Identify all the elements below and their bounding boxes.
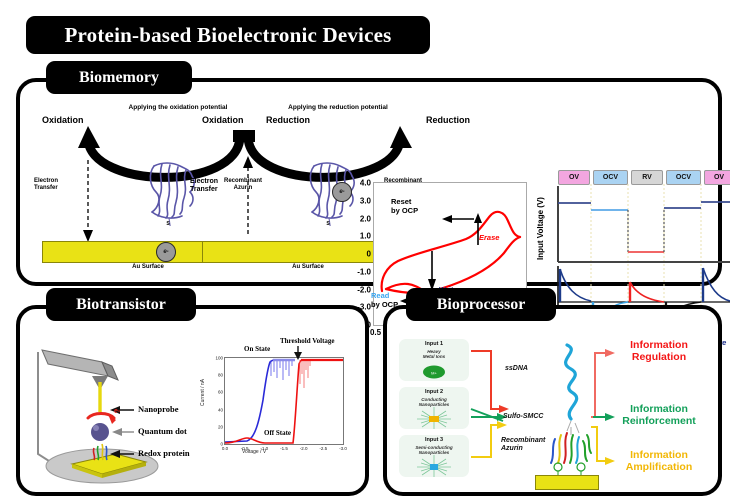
out-2-line2: Reinforcement <box>622 415 696 427</box>
cv-reset-line2: by OCP <box>391 206 418 215</box>
out-3-line1: Information <box>630 449 688 461</box>
iv-threshold-label: Threshold Voltage <box>280 337 335 345</box>
output-label-amplification: Information Amplification <box>626 449 693 473</box>
cv-ytick-3: 1.0 <box>360 232 371 241</box>
cv-annotation-erase: Erase <box>479 234 499 243</box>
middle-label-recombinant-azurin: Recombinant Azurin <box>501 437 545 454</box>
cv-ytick-1: 3.0 <box>360 196 371 205</box>
panel-badge-biomemory-text: Biomemory <box>79 69 159 87</box>
au-surface-bioprocessor <box>535 475 599 490</box>
out-1-line1: Information <box>630 339 688 351</box>
iv-xtick-4: -2.0 <box>300 446 308 451</box>
figure-root: Protein-based Bioelectronic Devices Appl… <box>0 0 730 504</box>
iv-xtick-6: -3.0 <box>339 446 347 451</box>
threshold-arrow-icon <box>292 346 322 362</box>
cv-ytick-4: 0 <box>367 250 371 259</box>
panel-badge-bioprocessor: Bioprocessor <box>406 288 556 321</box>
panel-biomemory: Applying the oxidation potential Oxidati… <box>16 78 722 286</box>
panel-badge-biotransistor: Biotransistor <box>46 288 196 321</box>
electron-badge-oxidation: e- <box>156 242 176 262</box>
panel-bioprocessor: Input 1 Heavy Metal Ions M+ Input 2 Cond… <box>383 305 722 496</box>
cv-annotation-reset: Reset by OCP <box>391 198 418 215</box>
label-quantum-dot: Quantum dot <box>138 426 187 436</box>
panel-badge-biotransistor-text: Biotransistor <box>76 296 166 314</box>
iv-yaxis-label: Current / nA <box>200 379 206 406</box>
transistor-transfer-chart: 0 20 40 60 80 100 0.0 -0.5 -1.0 -1.5 -2.… <box>198 337 358 472</box>
biotransistor-scene: Nanoprobe Quantum dot Redox protein e- <box>30 334 200 484</box>
middle-label-sulfo-smcc: Sulfo-SMCC <box>503 413 543 421</box>
iv-ytick-5: 100 <box>215 356 223 361</box>
iv-ytick-4: 80 <box>218 373 223 378</box>
cv-ytick-6: -2.0 <box>357 285 371 294</box>
azurin-bp-line2: Azurin <box>501 445 523 452</box>
out-1-line2: Regulation <box>632 351 686 363</box>
out-3-line2: Amplification <box>626 461 693 473</box>
label-nanoprobe: Nanoprobe <box>138 404 178 414</box>
iv-xtick-5: -2.5 <box>319 446 327 451</box>
cv-ytick-2: 2.0 <box>360 214 371 223</box>
panel-badge-biomemory: Biomemory <box>46 61 192 94</box>
iv-xtick-0: 0.0 <box>222 446 228 451</box>
iv-ytick-1: 20 <box>218 424 223 429</box>
iv-xaxis-label: Voltage / V <box>242 449 266 455</box>
figure-title-text: Protein-based Bioelectronic Devices <box>65 23 392 48</box>
iv-xtick-3: -1.5 <box>280 446 288 451</box>
panel-biotransistor: Nanoprobe Quantum dot Redox protein e- 0… <box>16 305 369 496</box>
iv-off-state-label: Off State <box>264 429 291 437</box>
iv-ytick-2: 40 <box>218 407 223 412</box>
iv-on-state-label: On State <box>244 345 270 353</box>
au-surface-label-reduction: Au Surface <box>292 264 324 271</box>
output-label-regulation: Information Regulation <box>630 339 688 363</box>
out-2-line1: Information <box>630 403 688 415</box>
iv-ytick-3: 60 <box>218 390 223 395</box>
azurin-bp-line1: Recombinant <box>501 437 545 444</box>
cv-ytick-5: -1.0 <box>357 267 371 276</box>
label-redox-protein: Redox protein <box>138 448 190 458</box>
au-surface-label-oxidation: Au Surface <box>132 264 164 271</box>
middle-label-ssdna: ssDNA <box>505 365 528 373</box>
panel-badge-bioprocessor-text: Bioprocessor <box>437 296 526 314</box>
figure-title: Protein-based Bioelectronic Devices <box>26 16 430 54</box>
output-label-reinforcement: Information Reinforcement <box>622 403 696 427</box>
cv-ytick-0: 4.0 <box>360 179 371 188</box>
cv-xtick-0: 0.5 <box>370 328 381 337</box>
bioprocessor-scene: Input 1 Heavy Metal Ions M+ Input 2 Cond… <box>395 331 710 483</box>
electron-label-biotransistor: e- <box>114 408 120 415</box>
